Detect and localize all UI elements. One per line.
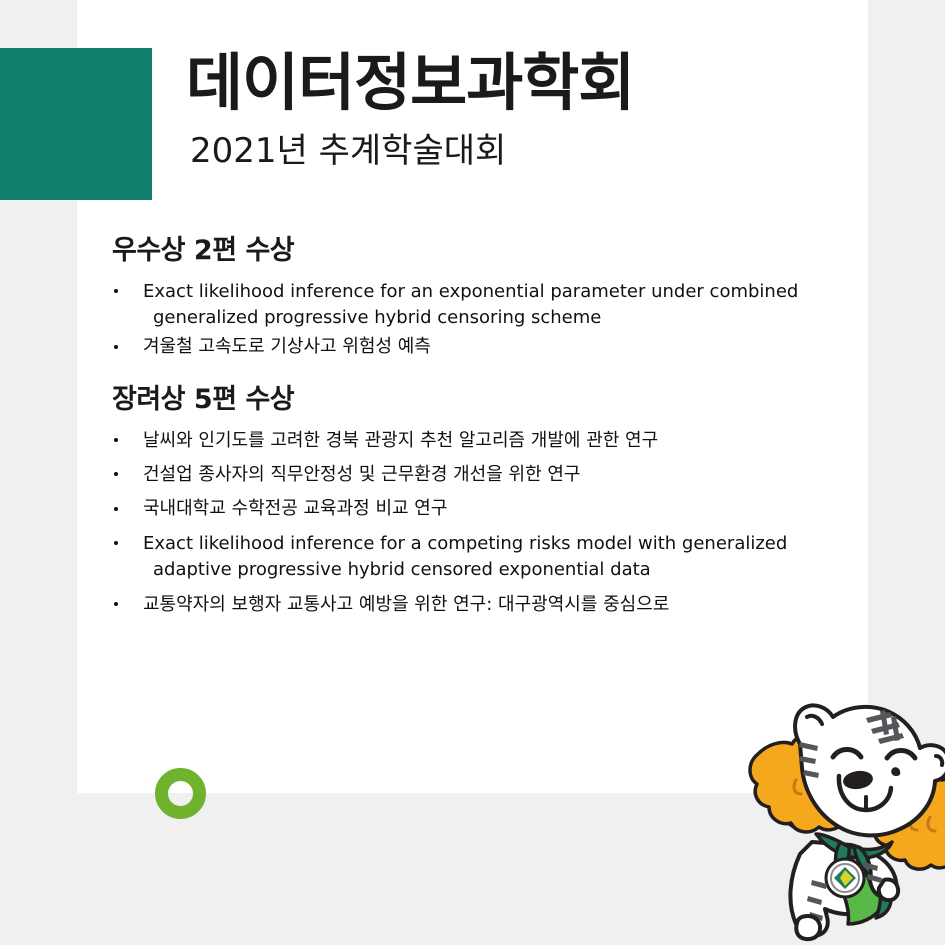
- list-item-line2: adaptive progressive hybrid censored exp…: [143, 558, 872, 581]
- section-heading: 우수상 2편 수상: [112, 236, 872, 266]
- list-item-line1: Exact likelihood inference for an expone…: [143, 281, 798, 302]
- list-item-line1: 겨울철 고속도로 기상사고 위험성 예측: [143, 336, 431, 357]
- list-item: 날씨와 인기도를 고려한 경북 관광지 추천 알고리즘 개발에 관한 연구: [112, 429, 872, 452]
- list-item-line1: 건설업 종사자의 직무안정성 및 근무환경 개선을 위한 연구: [143, 464, 581, 485]
- cheerleading-tiger-mascot: .ol { fill:none; stroke:#231f20; stroke-…: [688, 684, 945, 945]
- page-title: 데이터정보과학회: [186, 52, 846, 114]
- bullet-dot-icon: [114, 602, 118, 606]
- list-item-line1: 날씨와 인기도를 고려한 경북 관광지 추천 알고리즘 개발에 관한 연구: [143, 430, 658, 451]
- bullet-dot-icon: [114, 541, 118, 545]
- list-item-line1: Exact likelihood inference for a competi…: [143, 533, 787, 554]
- page-subtitle: 2021년 추계학술대회: [190, 134, 846, 168]
- section-excellence-award: 우수상 2편 수상 Exact likelihood inference for…: [112, 236, 872, 359]
- bullet-dot-icon: [114, 289, 118, 293]
- slide-canvas: 데이터정보과학회 2021년 추계학술대회 우수상 2편 수상 Exact li…: [0, 0, 945, 945]
- award-list: Exact likelihood inference for an expone…: [112, 280, 872, 359]
- bullet-dot-icon: [114, 507, 118, 511]
- bullet-dot-icon: [114, 472, 118, 476]
- teal-accent-block: [0, 48, 152, 200]
- section-encouragement-award: 장려상 5편 수상 날씨와 인기도를 고려한 경북 관광지 추천 알고리즘 개발…: [112, 385, 872, 616]
- list-item-line1: 국내대학교 수학전공 교육과정 비교 연구: [143, 498, 447, 519]
- list-item: Exact likelihood inference for an expone…: [112, 280, 872, 330]
- list-item-line1: 교통약자의 보행자 교통사고 예방을 위한 연구: 대구광역시를 중심으로: [143, 594, 669, 615]
- bullet-dot-icon: [114, 345, 118, 349]
- list-item: Exact likelihood inference for a competi…: [112, 532, 872, 582]
- slide-header: 데이터정보과학회 2021년 추계학술대회: [186, 52, 846, 168]
- slide-body: 우수상 2편 수상 Exact likelihood inference for…: [112, 236, 872, 627]
- green-ring-decoration: [155, 768, 206, 819]
- list-item: 건설업 종사자의 직무안정성 및 근무환경 개선을 위한 연구: [112, 463, 872, 486]
- list-item: 국내대학교 수학전공 교육과정 비교 연구: [112, 497, 872, 520]
- award-list: 날씨와 인기도를 고려한 경북 관광지 추천 알고리즘 개발에 관한 연구 건설…: [112, 429, 872, 616]
- list-item: 겨울철 고속도로 기상사고 위험성 예측: [112, 335, 872, 358]
- list-item: 교통약자의 보행자 교통사고 예방을 위한 연구: 대구광역시를 중심으로: [112, 593, 872, 616]
- list-item-line2: generalized progressive hybrid censoring…: [143, 306, 872, 329]
- bullet-dot-icon: [114, 438, 118, 442]
- section-heading: 장려상 5편 수상: [112, 385, 872, 415]
